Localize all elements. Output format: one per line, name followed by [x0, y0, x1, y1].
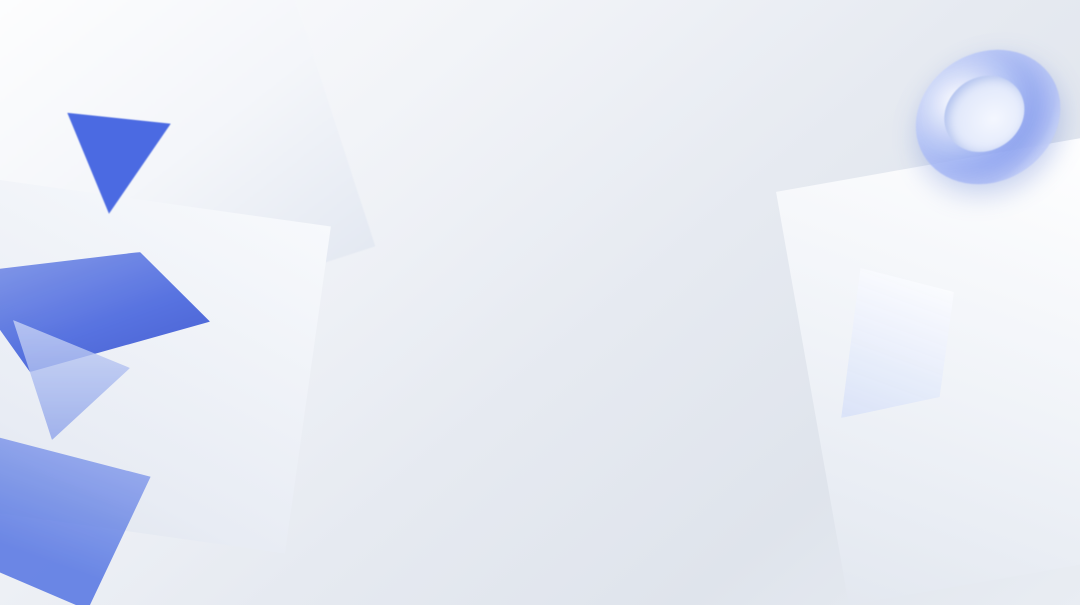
blue-gem-prop-bottom-right — [898, 520, 984, 605]
screenshot-root: 上海市人口早期发展协会 请点击屏幕左上方的投票按钮，选择您所在的区进行签到，感谢… — [0, 0, 1080, 605]
studio-background — [0, 0, 1080, 605]
blue-triangle-prop-1 — [57, 113, 170, 219]
